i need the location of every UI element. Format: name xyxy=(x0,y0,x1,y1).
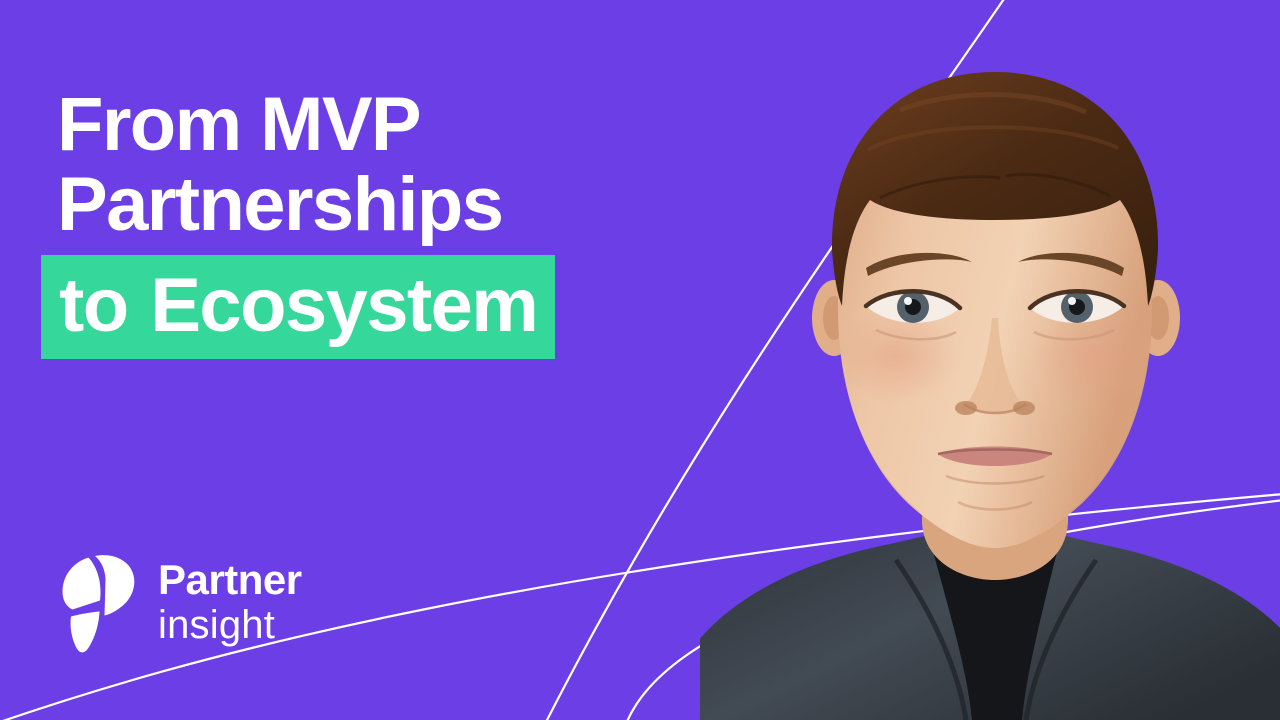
portrait xyxy=(700,0,1280,720)
portrait-illustration xyxy=(700,0,1280,720)
partner-insight-p-mark-icon xyxy=(58,548,140,656)
headline-line-3-highlight: toEcosystem xyxy=(41,255,555,359)
headline-line-3-keyword: Ecosystem xyxy=(150,263,537,348)
thumbnail-canvas: From MVP Partnerships toEcosystem Partne… xyxy=(0,0,1280,720)
logo-word-insight: insight xyxy=(158,605,302,645)
headline-line-1: From MVP xyxy=(41,88,741,162)
logo-word-partner: Partner xyxy=(158,559,302,601)
logo-wordmark: Partner insight xyxy=(158,559,302,645)
headline: From MVP Partnerships toEcosystem xyxy=(41,88,741,359)
headline-line-2: Partnerships xyxy=(41,168,741,242)
headline-line-3-prefix: to xyxy=(59,263,128,348)
partner-insight-logo: Partner insight xyxy=(58,548,302,656)
